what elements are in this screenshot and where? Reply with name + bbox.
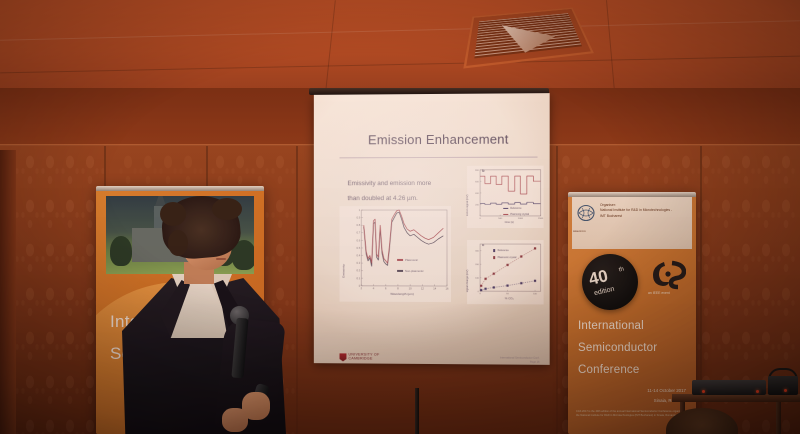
slide-title-divider xyxy=(340,157,538,159)
panel-letter-b: b xyxy=(482,168,484,173)
wallpaper-seam xyxy=(296,146,298,434)
ieee-event-note: an IEEE event xyxy=(648,291,670,295)
organiser-line-1: National Institute for R&D in Microtechn… xyxy=(600,208,672,213)
av-status-led xyxy=(702,390,705,393)
legend-marker-icon xyxy=(493,249,495,251)
speaker-hair-tuft xyxy=(168,230,188,256)
organiser-line-2: IMT Bucharest xyxy=(600,214,672,219)
crest-icon xyxy=(340,353,347,361)
wallpaper-seam xyxy=(556,146,558,434)
svg-text:0.2: 0.2 xyxy=(357,269,361,273)
conference-title-line-1: International xyxy=(578,320,644,332)
svg-text:14: 14 xyxy=(433,287,436,291)
svg-text:100: 100 xyxy=(475,277,479,279)
svg-text:2: 2 xyxy=(361,286,363,290)
slide-body-line-2: than doubled at 4.26 µm. xyxy=(347,191,451,206)
svg-text:500: 500 xyxy=(498,218,502,220)
svg-text:0.6: 0.6 xyxy=(357,238,361,242)
conference-title-line-3: Conference xyxy=(578,364,639,376)
edition-badge: 40 th edition xyxy=(582,254,638,310)
legend-swatch-icon xyxy=(503,214,508,215)
slide-content: Emission Enhancement Emissivity and emis… xyxy=(326,109,552,359)
co2-x-axis-label: % CO₂ xyxy=(479,296,539,300)
slide-footer-note: International Semiconductor Conf. Page 1… xyxy=(500,356,540,364)
projection-screen-assembly: Emission Enhancement Emissivity and emis… xyxy=(305,88,553,378)
svg-text:0: 0 xyxy=(479,293,481,295)
legend-label: Reference xyxy=(510,207,521,210)
chart-signal-time-trace: 050010001500200400600800 b lock-in signa… xyxy=(467,166,544,228)
conference-photo-scene: Emission Enhancement Emissivity and emis… xyxy=(0,0,800,434)
av-table-leg xyxy=(776,402,781,434)
svg-text:1: 1 xyxy=(359,208,361,212)
trace-x-axis-label: time (s) xyxy=(479,221,539,224)
slide-body-text: Emissivity and emission more than double… xyxy=(347,176,451,206)
slide-title: Emission Enhancement xyxy=(326,131,552,147)
av-equipment-area xyxy=(672,368,800,434)
av-status-led xyxy=(784,389,787,392)
panel-letter-c: c xyxy=(482,242,484,247)
svg-text:0.9: 0.9 xyxy=(357,216,361,220)
speaker-hand-right xyxy=(242,392,270,420)
legend-swatch-icon xyxy=(397,270,403,271)
legend-swatch-icon xyxy=(397,259,403,260)
speaker-hair-tuft xyxy=(212,198,242,220)
trace-legend-reference: Reference xyxy=(503,207,521,210)
imt-logo-icon xyxy=(576,204,596,226)
badge-ordinal: th xyxy=(618,267,624,274)
av-status-led xyxy=(756,390,759,393)
co2-y-axis-label: signal change (mV) xyxy=(466,270,469,292)
svg-text:50: 50 xyxy=(506,293,509,295)
svg-text:0.8: 0.8 xyxy=(357,223,361,227)
chart-signal-vs-co2: 0501000100200300 c signal change (mV) % … xyxy=(467,240,544,304)
svg-text:1000: 1000 xyxy=(518,218,524,220)
cambridge-logo-text: UNIVERSITY OF CAMBRIDGE xyxy=(348,353,379,361)
emissivity-y-axis-label: Emissivity xyxy=(342,264,346,278)
audience-head xyxy=(666,408,738,434)
chart-emissivity-spectrum: 24681012141600.10.20.30.40.50.60.70.80.9… xyxy=(340,206,451,302)
speaker-person xyxy=(116,196,294,434)
svg-text:200: 200 xyxy=(475,264,479,266)
footer-note-line-2: Page 16 xyxy=(500,360,540,364)
svg-text:400: 400 xyxy=(475,193,479,195)
svg-text:12: 12 xyxy=(421,287,424,291)
legend-label: Non-plasmonic xyxy=(405,269,424,273)
ceiling xyxy=(0,0,800,92)
door-frame xyxy=(0,150,16,434)
trace-legend-plasmonic-crystal: Plasmonic crystal xyxy=(503,213,529,216)
legend-label: Reference xyxy=(498,249,509,252)
svg-text:300: 300 xyxy=(475,251,479,253)
svg-text:200: 200 xyxy=(475,204,479,206)
time-trace-plot-svg: 050010001500200400600800 xyxy=(467,166,544,228)
svg-text:0.5: 0.5 xyxy=(357,246,361,250)
legend-label: Plasmonic crystal xyxy=(510,213,529,216)
svg-text:6: 6 xyxy=(385,286,387,290)
svg-text:100: 100 xyxy=(533,294,537,296)
ieee-cas-logo-icon xyxy=(650,258,686,290)
screen-stand-pole xyxy=(415,388,419,434)
emissivity-plot-svg: 24681012141600.10.20.30.40.50.60.70.80.9… xyxy=(340,206,451,302)
cambridge-line-2: CAMBRIDGE xyxy=(348,357,379,361)
svg-text:1500: 1500 xyxy=(538,218,544,220)
svg-text:0.1: 0.1 xyxy=(357,276,361,280)
svg-text:800: 800 xyxy=(475,170,479,172)
svg-text:0.7: 0.7 xyxy=(357,231,361,235)
legend-label: Plasmonic xyxy=(405,258,418,262)
av-unit-secondary xyxy=(768,376,798,395)
svg-text:4: 4 xyxy=(373,286,375,290)
co2-legend-plasmonic-crystal: Plasmonic crystal xyxy=(493,256,516,259)
svg-text:600: 600 xyxy=(475,181,479,183)
emissivity-x-axis-label: Wavelength (µm) xyxy=(357,292,447,296)
svg-text:0.4: 0.4 xyxy=(357,253,361,257)
slide-body-line-1: Emissivity and emission more xyxy=(347,176,451,191)
projection-screen-surface: Emission Enhancement Emissivity and emis… xyxy=(314,93,550,365)
banner-right-organiser: Organiser: National Institute for R&D in… xyxy=(600,203,672,219)
speaker-hair-tuft xyxy=(160,202,186,226)
svg-text:0.3: 0.3 xyxy=(357,261,361,265)
svg-text:8: 8 xyxy=(397,286,399,290)
legend-swatch-icon xyxy=(503,208,508,209)
svg-text:0: 0 xyxy=(479,218,481,220)
av-table-top xyxy=(672,394,800,402)
banner-left-rail xyxy=(96,186,264,191)
emissivity-legend-plasmonic: Plasmonic xyxy=(397,258,418,262)
legend-marker-icon xyxy=(493,256,495,258)
cambridge-logo: UNIVERSITY OF CAMBRIDGE xyxy=(340,353,380,361)
svg-text:16: 16 xyxy=(446,287,449,291)
trace-y-axis-label: lock-in signal (mV) xyxy=(466,195,469,216)
conference-title-line-2: Semiconductor xyxy=(578,342,657,354)
emissivity-legend-nonplasmonic: Non-plasmonic xyxy=(397,269,424,273)
co2-legend-reference: Reference xyxy=(493,249,509,252)
svg-text:10: 10 xyxy=(409,287,412,291)
legend-label: Plasmonic crystal xyxy=(498,256,517,259)
banner-right-url: www.imt.ro xyxy=(573,230,586,233)
